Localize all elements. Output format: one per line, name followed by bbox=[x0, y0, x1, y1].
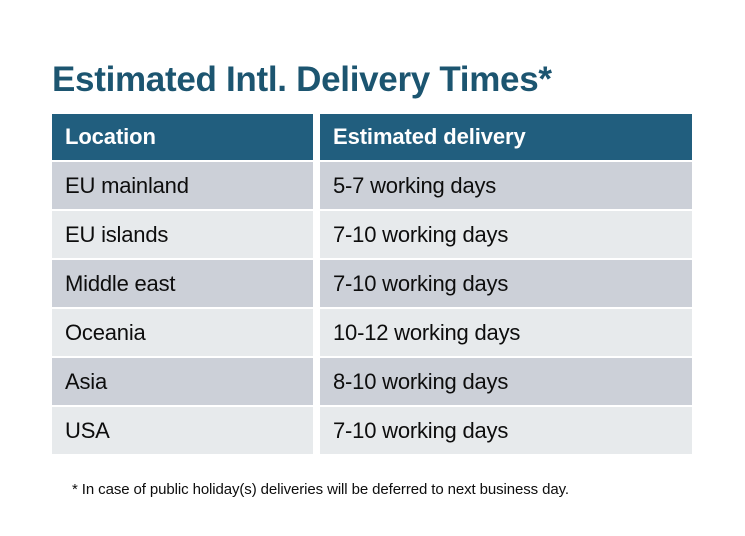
cell-estimated-delivery: 7-10 working days bbox=[320, 407, 692, 454]
column-divider bbox=[313, 309, 320, 356]
cell-estimated-delivery: 8-10 working days bbox=[320, 358, 692, 405]
cell-estimated-delivery: 7-10 working days bbox=[320, 260, 692, 307]
delivery-times-page: Estimated Intl. Delivery Times* Location… bbox=[0, 0, 745, 536]
delivery-times-table: Location Estimated delivery EU mainland … bbox=[52, 114, 692, 454]
column-divider bbox=[313, 114, 320, 160]
cell-location: Asia bbox=[52, 358, 313, 405]
cell-estimated-delivery: 7-10 working days bbox=[320, 211, 692, 258]
table-row: EU islands 7-10 working days bbox=[52, 211, 692, 258]
column-header-estimated-delivery: Estimated delivery bbox=[320, 114, 692, 160]
column-divider bbox=[313, 162, 320, 209]
column-divider bbox=[313, 407, 320, 454]
table-row: Asia 8-10 working days bbox=[52, 358, 692, 405]
cell-location: Middle east bbox=[52, 260, 313, 307]
page-title: Estimated Intl. Delivery Times* bbox=[52, 59, 552, 101]
table-header-row: Location Estimated delivery bbox=[52, 114, 692, 160]
column-divider bbox=[313, 211, 320, 258]
table-row: Oceania 10-12 working days bbox=[52, 309, 692, 356]
footnote: * In case of public holiday(s) deliverie… bbox=[72, 481, 569, 498]
table-row: EU mainland 5-7 working days bbox=[52, 162, 692, 209]
table-row: Middle east 7-10 working days bbox=[52, 260, 692, 307]
column-header-location: Location bbox=[52, 114, 313, 160]
cell-location: USA bbox=[52, 407, 313, 454]
cell-location: Oceania bbox=[52, 309, 313, 356]
table-row: USA 7-10 working days bbox=[52, 407, 692, 454]
cell-estimated-delivery: 10-12 working days bbox=[320, 309, 692, 356]
cell-location: EU mainland bbox=[52, 162, 313, 209]
cell-estimated-delivery: 5-7 working days bbox=[320, 162, 692, 209]
column-divider bbox=[313, 260, 320, 307]
column-divider bbox=[313, 358, 320, 405]
cell-location: EU islands bbox=[52, 211, 313, 258]
